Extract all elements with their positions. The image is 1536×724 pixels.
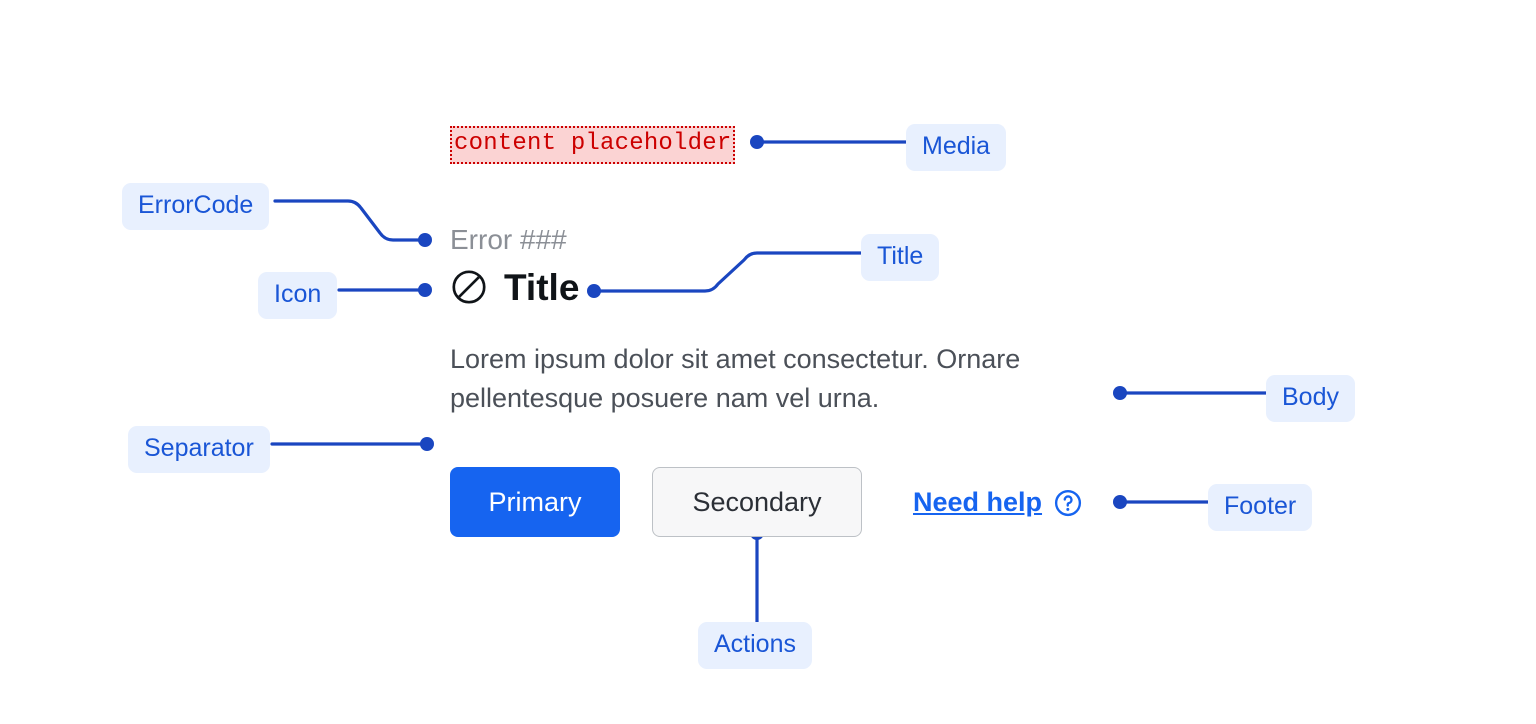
body-text: Lorem ipsum dolor sit amet consectetur. … [450, 340, 1110, 418]
page-title: Title [504, 269, 579, 306]
secondary-button[interactable]: Secondary [652, 467, 862, 537]
annotation-pill-footer[interactable]: Footer [1208, 484, 1312, 531]
annotation-pill-body[interactable]: Body [1266, 375, 1355, 422]
annotation-pill-icon[interactable]: Icon [258, 272, 337, 319]
connector-dot-media [750, 135, 764, 149]
error-code-text: Error ### [450, 226, 567, 254]
connector-dot-footer [1113, 495, 1127, 509]
annotation-pill-media[interactable]: Media [906, 124, 1006, 171]
connector-dot-separator [420, 437, 434, 451]
annotated-error-component-diagram: content placeholder Error ### Title Lore… [0, 0, 1536, 724]
help-circle-question-icon[interactable] [1053, 488, 1083, 518]
connector-dot-icon [418, 283, 432, 297]
media-content-placeholder: content placeholder [450, 126, 735, 164]
connector-dot-title [587, 284, 601, 298]
annotation-pill-actions[interactable]: Actions [698, 622, 812, 669]
annotation-pill-separator[interactable]: Separator [128, 426, 270, 473]
connector-dot-errorcode [418, 233, 432, 247]
title-row: Title [450, 268, 579, 306]
prohibited-circle-slash-icon [450, 268, 488, 306]
annotation-pill-title[interactable]: Title [861, 234, 939, 281]
need-help-label: Need help [913, 487, 1042, 518]
connector-dot-body [1113, 386, 1127, 400]
connector-errorcode [275, 201, 425, 240]
primary-button[interactable]: Primary [450, 467, 620, 537]
annotation-pill-errorcode[interactable]: ErrorCode [122, 183, 269, 230]
connector-title [594, 253, 866, 291]
need-help-link[interactable]: Need help [913, 487, 1083, 518]
